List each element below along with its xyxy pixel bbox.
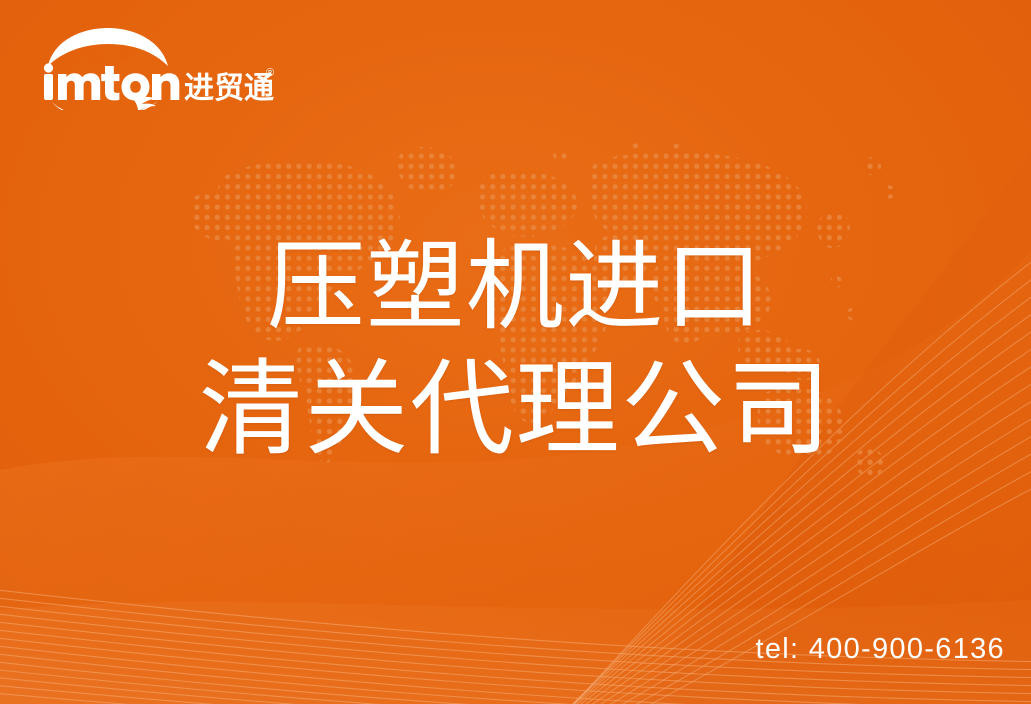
bird-swoosh-icon <box>52 97 158 110</box>
headline-line-2: 清关代理公司 <box>0 352 1031 468</box>
logo-chinese-name: 进贸通 <box>184 71 274 106</box>
logo-svg: 进贸通 ® <box>38 26 278 110</box>
promo-banner: 进贸通 ® 压塑机进口 清关代理公司 tel: 400-900-6136 <box>0 0 1031 704</box>
globe-arc-icon <box>48 28 168 67</box>
brand-logo[interactable]: 进贸通 ® <box>38 26 278 110</box>
headline: 压塑机进口 清关代理公司 <box>0 232 1031 468</box>
logo-trademark-icon: ® <box>266 67 274 79</box>
headline-line-1: 压塑机进口 <box>0 232 1031 342</box>
logo-wordmark <box>44 63 179 100</box>
contact-phone[interactable]: tel: 400-900-6136 <box>755 633 1005 666</box>
